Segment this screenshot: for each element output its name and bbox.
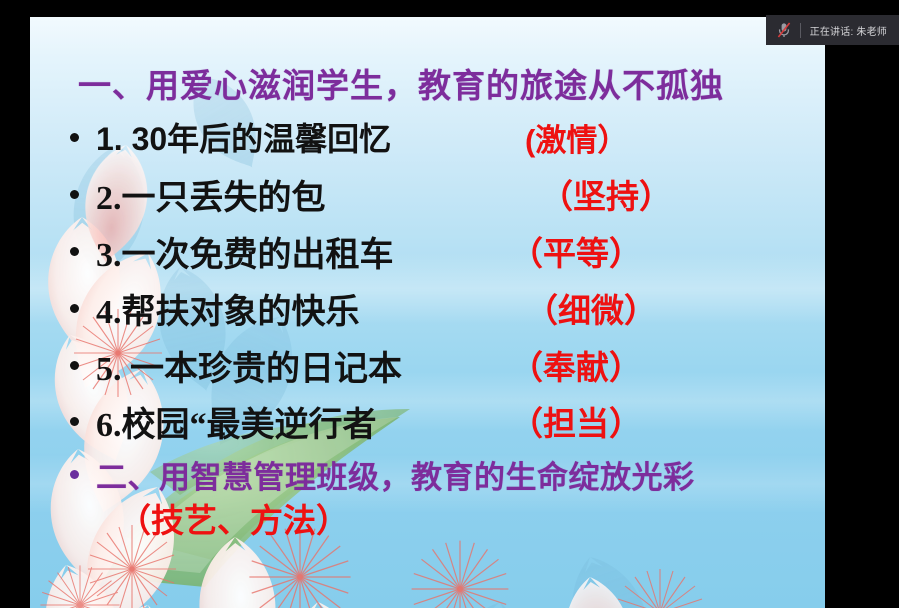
- list-item: 5. 一本珍贵的日记本 （奉献）: [70, 337, 790, 393]
- list-item-tag: （奉献）: [510, 341, 642, 389]
- list-item-text: 2.一只丢失的包: [96, 170, 326, 219]
- slide-heading-one: 一、用爱心滋润学生，教育的旅途从不孤独: [78, 59, 724, 107]
- bullet-dot-icon: [70, 247, 79, 256]
- list-item-tag: (激情）: [525, 115, 628, 160]
- list-item-tag: （担当）: [510, 397, 642, 445]
- bullet-dot-icon: [70, 361, 79, 370]
- list-item-text: 4.帮扶对象的快乐: [96, 284, 360, 333]
- bullet-dot-icon: [70, 190, 79, 199]
- list-item: 2.一只丢失的包 （坚持）: [70, 166, 790, 222]
- list-item: 1. 30年后的温馨回忆 (激情）: [70, 109, 790, 165]
- list-item-tag: （坚持）: [540, 170, 672, 218]
- screen-share-viewport: 一、用爱心滋润学生，教育的旅途从不孤独 1. 30年后的温馨回忆 (激情） 2.…: [0, 0, 899, 608]
- bullet-dot-icon: [70, 417, 79, 426]
- microphone-muted-icon: [776, 21, 792, 39]
- list-item-text: 6.校园“最美逆行者: [96, 397, 377, 446]
- active-speaker-label: 正在讲话: 朱老师: [810, 23, 887, 38]
- list-item-text: 1. 30年后的温馨回忆: [96, 114, 391, 160]
- list-item-text: 5. 一本珍贵的日记本: [96, 341, 402, 390]
- presentation-slide: 一、用爱心滋润学生，教育的旅途从不孤独 1. 30年后的温馨回忆 (激情） 2.…: [30, 17, 825, 608]
- bullet-dot-icon: [70, 470, 79, 479]
- bullet-dot-icon: [70, 304, 79, 313]
- badge-divider: [800, 23, 801, 38]
- list-item: 3.一次免费的出租车 （平等）: [70, 223, 790, 279]
- slide-heading-two-row: 二、用智慧管理班级，教育的生命绽放光彩: [70, 451, 810, 497]
- list-item-tag: （平等）: [510, 227, 642, 275]
- bullet-dot-icon: [70, 133, 79, 142]
- slide-heading-two: 二、用智慧管理班级，教育的生命绽放光彩: [96, 452, 695, 497]
- active-speaker-badge: 正在讲话: 朱老师: [766, 15, 899, 45]
- list-item: 4.帮扶对象的快乐 （细微）: [70, 280, 790, 336]
- slide-subheading-two: （技艺、方法）: [118, 494, 349, 542]
- list-item-text: 3.一次免费的出租车: [96, 227, 394, 276]
- list-item-tag: （细微）: [525, 284, 657, 332]
- list-item: 6.校园“最美逆行者 （担当）: [70, 393, 790, 449]
- slide-text-content: 一、用爱心滋润学生，教育的旅途从不孤独 1. 30年后的温馨回忆 (激情） 2.…: [30, 17, 825, 608]
